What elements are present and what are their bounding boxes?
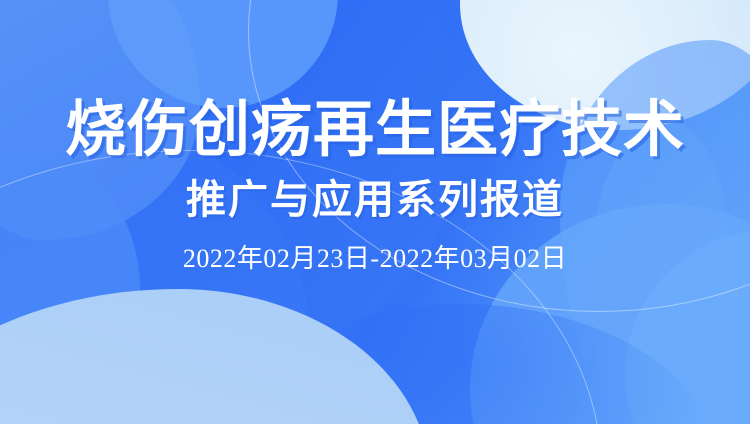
banner-main-title: 烧伤创疡再生医疗技术	[65, 99, 685, 160]
banner-text-content: 烧伤创疡再生医疗技术 推广与应用系列报道 2022年02月23日-2022年03…	[0, 0, 750, 424]
promo-banner: 烧伤创疡再生医疗技术 推广与应用系列报道 2022年02月23日-2022年03…	[0, 0, 750, 424]
banner-subtitle: 推广与应用系列报道	[186, 180, 564, 220]
banner-date-range: 2022年02月23日-2022年03月02日	[183, 246, 567, 272]
